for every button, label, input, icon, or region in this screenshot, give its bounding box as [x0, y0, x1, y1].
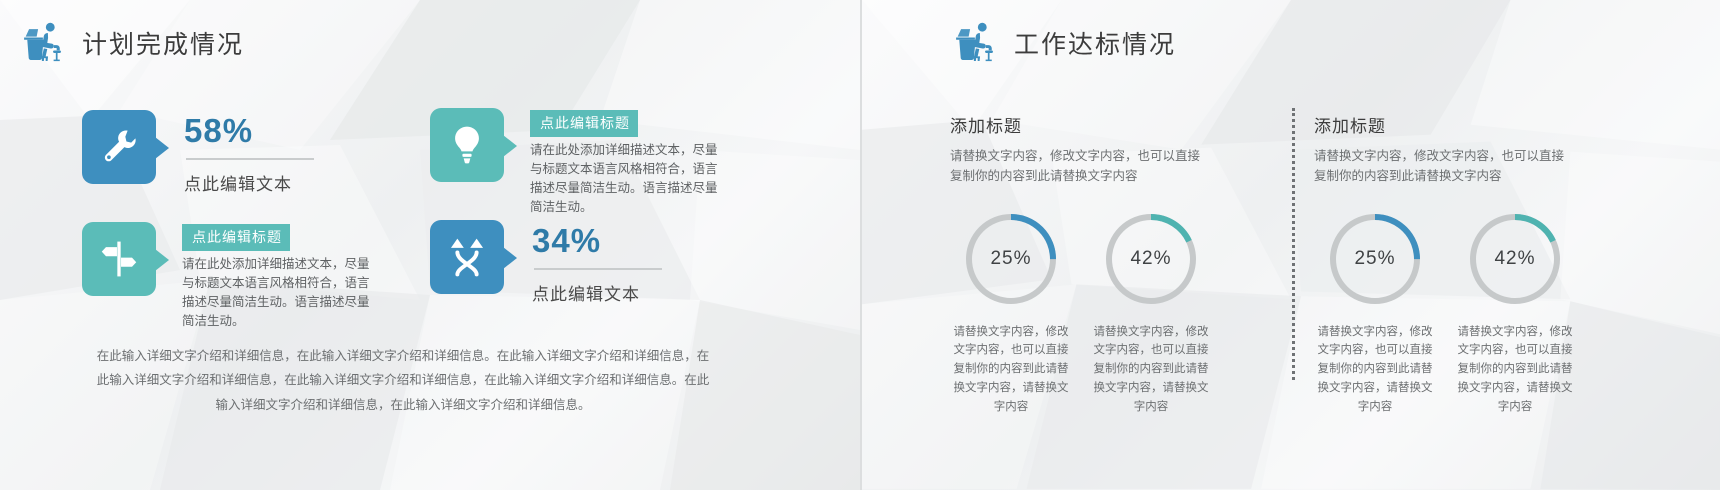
- column-heading: 添加标题: [950, 112, 1260, 137]
- stat-label: 点此编辑文本: [184, 170, 314, 195]
- wrench-icon: [97, 125, 141, 169]
- bottom-paragraph: 在此输入详细文字介绍和详细信息，在此输入详细文字介绍和详细信息。在此输入详细文字…: [92, 344, 714, 417]
- donut-value: 25%: [1325, 209, 1425, 309]
- lightbulb-icon: [445, 123, 489, 167]
- titled-body: 请在此处添加详细描述文本，尽量与标题文本语言风格相符合，语言描述尽量简洁生动。语…: [530, 141, 718, 217]
- stat-block-4: 34% 点此编辑文本: [532, 220, 662, 305]
- tile-wrap-2: [430, 108, 504, 182]
- column-subtext: 请替换文字内容，修改文字内容，也可以直接复制你的内容到此请替换文字内容: [950, 146, 1200, 187]
- slide-plan-completion: 计划完成情况 58% 点此编辑文本: [0, 0, 860, 490]
- donut-caption: 请替换文字内容，修改文字内容，也可以直接复制你的内容到此请替换文字内容，请替换文…: [1454, 323, 1576, 418]
- donut-caption: 请替换文字内容，修改文字内容，也可以直接复制你的内容到此请替换文字内容，请替换文…: [1090, 323, 1212, 418]
- tile-wrap-1: [82, 110, 156, 184]
- column-subtext: 请替换文字内容，修改文字内容，也可以直接复制你的内容到此请替换文字内容: [1314, 146, 1564, 187]
- titled-heading: 点此编辑标题: [182, 224, 290, 251]
- donut-cell[interactable]: 25% 请替换文字内容，修改文字内容，也可以直接复制你的内容到此请替换文字内容，…: [1314, 209, 1436, 418]
- feature-cell-4[interactable]: 34% 点此编辑文本: [430, 220, 662, 305]
- icon-tile-3: [82, 222, 156, 296]
- titled-block-3: 点此编辑标题 请在此处添加详细描述文本，尽量与标题文本语言风格相符合，语言描述尽…: [182, 222, 370, 331]
- person-at-desk-icon: [954, 20, 1000, 66]
- donut-value: 42%: [1465, 209, 1565, 309]
- slide-work-target: 工作达标情况 添加标题 请替换文字内容，修改文字内容，也可以直接复制你的内容到此…: [860, 0, 1720, 490]
- column-group-2: 添加标题 请替换文字内容，修改文字内容，也可以直接复制你的内容到此请替换文字内容…: [1314, 112, 1624, 417]
- tile-wrap-3: [82, 222, 156, 296]
- column-group-1: 添加标题 请替换文字内容，修改文字内容，也可以直接复制你的内容到此请替换文字内容…: [950, 112, 1260, 417]
- titled-block-2: 点此编辑标题 请在此处添加详细描述文本，尽量与标题文本语言风格相符合，语言描述尽…: [530, 108, 718, 217]
- stat-divider: [186, 158, 314, 160]
- donut-chart-42: 42%: [1101, 209, 1201, 309]
- donut-chart-42: 42%: [1465, 209, 1565, 309]
- donut-cell[interactable]: 25% 请替换文字内容，修改文字内容，也可以直接复制你的内容到此请替换文字内容，…: [950, 209, 1072, 418]
- icon-tile-1: [82, 110, 156, 184]
- right-slide-header: 工作达标情况: [954, 20, 1176, 66]
- donut-value: 42%: [1101, 209, 1201, 309]
- stat-value: 34%: [532, 224, 662, 257]
- feature-cell-1[interactable]: 58% 点此编辑文本: [82, 110, 314, 195]
- stat-divider: [534, 268, 662, 270]
- donut-value: 25%: [961, 209, 1061, 309]
- person-at-desk-icon: [22, 20, 68, 66]
- crossing-arrows-icon: [445, 235, 489, 279]
- page-title: 计划完成情况: [82, 25, 244, 61]
- stat-block-1: 58% 点此编辑文本: [184, 110, 314, 195]
- stat-value: 58%: [184, 114, 314, 147]
- column-heading: 添加标题: [1314, 112, 1624, 137]
- tile-wrap-4: [430, 220, 504, 294]
- stat-label: 点此编辑文本: [532, 280, 662, 305]
- signpost-icon: [97, 237, 141, 281]
- titled-body: 请在此处添加详细描述文本，尽量与标题文本语言风格相符合，语言描述尽量简洁生动。语…: [182, 255, 370, 331]
- feature-cell-3[interactable]: 点此编辑标题 请在此处添加详细描述文本，尽量与标题文本语言风格相符合，语言描述尽…: [82, 222, 370, 331]
- donut-row: 25% 请替换文字内容，修改文字内容，也可以直接复制你的内容到此请替换文字内容，…: [950, 209, 1260, 418]
- donut-chart-25: 25%: [961, 209, 1061, 309]
- feature-cell-2[interactable]: 点此编辑标题 请在此处添加详细描述文本，尽量与标题文本语言风格相符合，语言描述尽…: [430, 108, 718, 217]
- vertical-dotted-divider: [1292, 108, 1295, 380]
- icon-tile-4: [430, 220, 504, 294]
- donut-cell[interactable]: 42% 请替换文字内容，修改文字内容，也可以直接复制你的内容到此请替换文字内容，…: [1454, 209, 1576, 418]
- donut-caption: 请替换文字内容，修改文字内容，也可以直接复制你的内容到此请替换文字内容，请替换文…: [1314, 323, 1436, 418]
- donut-caption: 请替换文字内容，修改文字内容，也可以直接复制你的内容到此请替换文字内容，请替换文…: [950, 323, 1072, 418]
- donut-chart-25: 25%: [1325, 209, 1425, 309]
- icon-tile-2: [430, 108, 504, 182]
- donut-row: 25% 请替换文字内容，修改文字内容，也可以直接复制你的内容到此请替换文字内容，…: [1314, 209, 1624, 418]
- titled-heading: 点此编辑标题: [530, 110, 638, 137]
- page-title: 工作达标情况: [1014, 25, 1176, 61]
- donut-cell[interactable]: 42% 请替换文字内容，修改文字内容，也可以直接复制你的内容到此请替换文字内容，…: [1090, 209, 1212, 418]
- left-slide-header: 计划完成情况: [22, 20, 244, 66]
